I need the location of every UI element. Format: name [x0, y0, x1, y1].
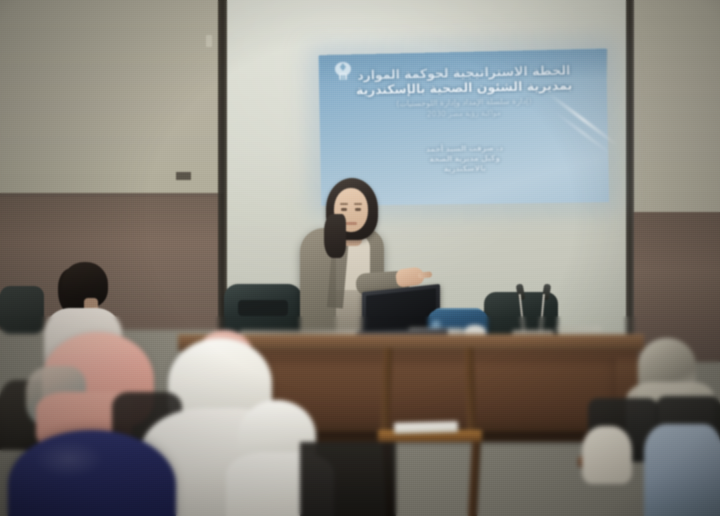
presenter-hijab-drape: [324, 214, 346, 258]
egyptian-eagle-emblem-icon: [332, 60, 354, 84]
screen-frame-right: [626, 0, 634, 344]
audience-member-navy-hijab-highlight: [34, 440, 104, 478]
presenter-mouth: [346, 222, 357, 225]
office-chair-far-left: [0, 286, 44, 334]
office-chair-cushion: [238, 300, 288, 316]
slide-presenter-block: د. صرفت السيد أحمد وكيل مديرية الصحة بال…: [359, 142, 571, 176]
slide-presenter-name: د. صرفت السيد أحمد: [426, 143, 503, 153]
wall-vent: [176, 172, 191, 180]
slide-presenter-org: بالاسكندرية: [444, 164, 486, 174]
desk-items-right: [556, 326, 602, 332]
stack-of-papers: [394, 421, 458, 434]
presenter-eyebrow-right: [354, 203, 362, 205]
wooden-chair-leg-right: [468, 440, 481, 516]
screen-frame-left: [218, 0, 227, 332]
wall-switch: [206, 35, 212, 47]
presenter-eye-left: [341, 208, 347, 211]
audience-shoulder-dark-right: [300, 442, 396, 516]
audience-member-blue-shirt: [644, 424, 720, 516]
slide-presenter-title: وكيل مديرية الصحة: [429, 153, 500, 163]
slide-top-shading: [320, 49, 608, 85]
audience-member-cream-hijab: [582, 426, 632, 484]
conference-presentation-photo: الخطة الاستراتيجية لحوكمة الموارد بمديري…: [0, 0, 720, 516]
presenter-eye-right: [355, 208, 361, 211]
presenter-eyebrow-left: [340, 203, 348, 205]
